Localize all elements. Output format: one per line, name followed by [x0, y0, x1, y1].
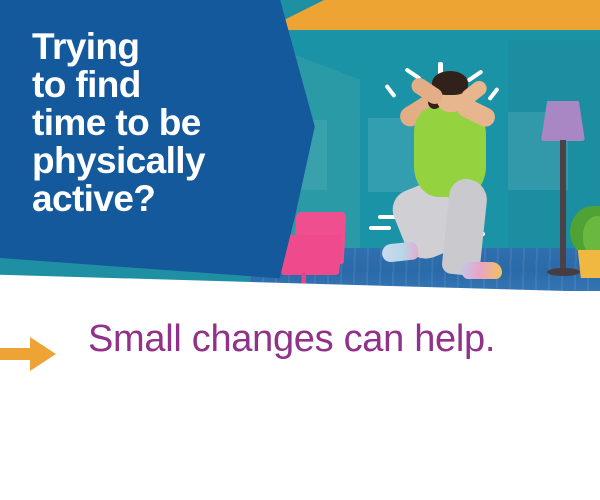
tagline-text: Small changes can help. — [88, 317, 495, 363]
footer: CDC Learn How cdc.gov/MovingMatters CREA… — [0, 395, 600, 500]
headline-line-3: time to be — [32, 104, 282, 142]
headline-line-5: active? — [32, 180, 282, 218]
exercising-person-figure — [380, 55, 550, 291]
headline-line-2: to find — [32, 66, 282, 104]
lamp-pole — [560, 140, 566, 271]
front-shoe — [462, 262, 502, 279]
back-shoe — [381, 241, 419, 263]
lamp-base — [547, 268, 580, 276]
pink-armchair-seat — [281, 235, 343, 275]
page-title: Trying to find time to be physically act… — [32, 28, 282, 219]
tagline-band: Small changes can help. — [0, 291, 600, 395]
cdc-moving-matters-ad: Trying to find time to be physically act… — [0, 0, 600, 500]
right-arrow-icon — [0, 337, 56, 371]
headline-line-1: Trying — [32, 28, 282, 66]
headline-line-4: physically — [32, 142, 282, 180]
headline-panel: Trying to find time to be physically act… — [0, 0, 318, 290]
